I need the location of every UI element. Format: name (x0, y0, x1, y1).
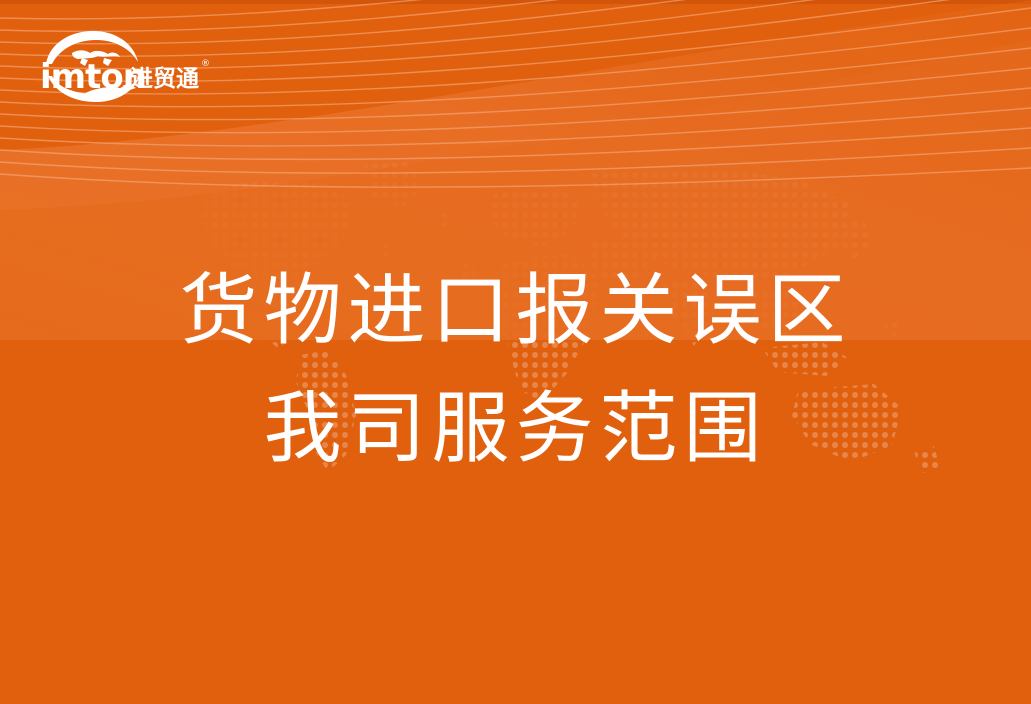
slide-title: 货物进口报关误区 我司服务范围 (0, 252, 1031, 488)
trademark-icon: ® (201, 59, 210, 69)
logo-chinese-text: 进贸通 (130, 66, 199, 92)
top-edge-strip (0, 0, 1031, 4)
presentation-slide: imton 进贸通 ® 货物进口报关误区 我司服务范围 (0, 0, 1031, 704)
brand-logo[interactable]: imton 进贸通 ® (38, 28, 213, 106)
title-line-1: 货物进口报关误区 (0, 252, 1031, 370)
title-line-2: 我司服务范围 (0, 370, 1031, 488)
